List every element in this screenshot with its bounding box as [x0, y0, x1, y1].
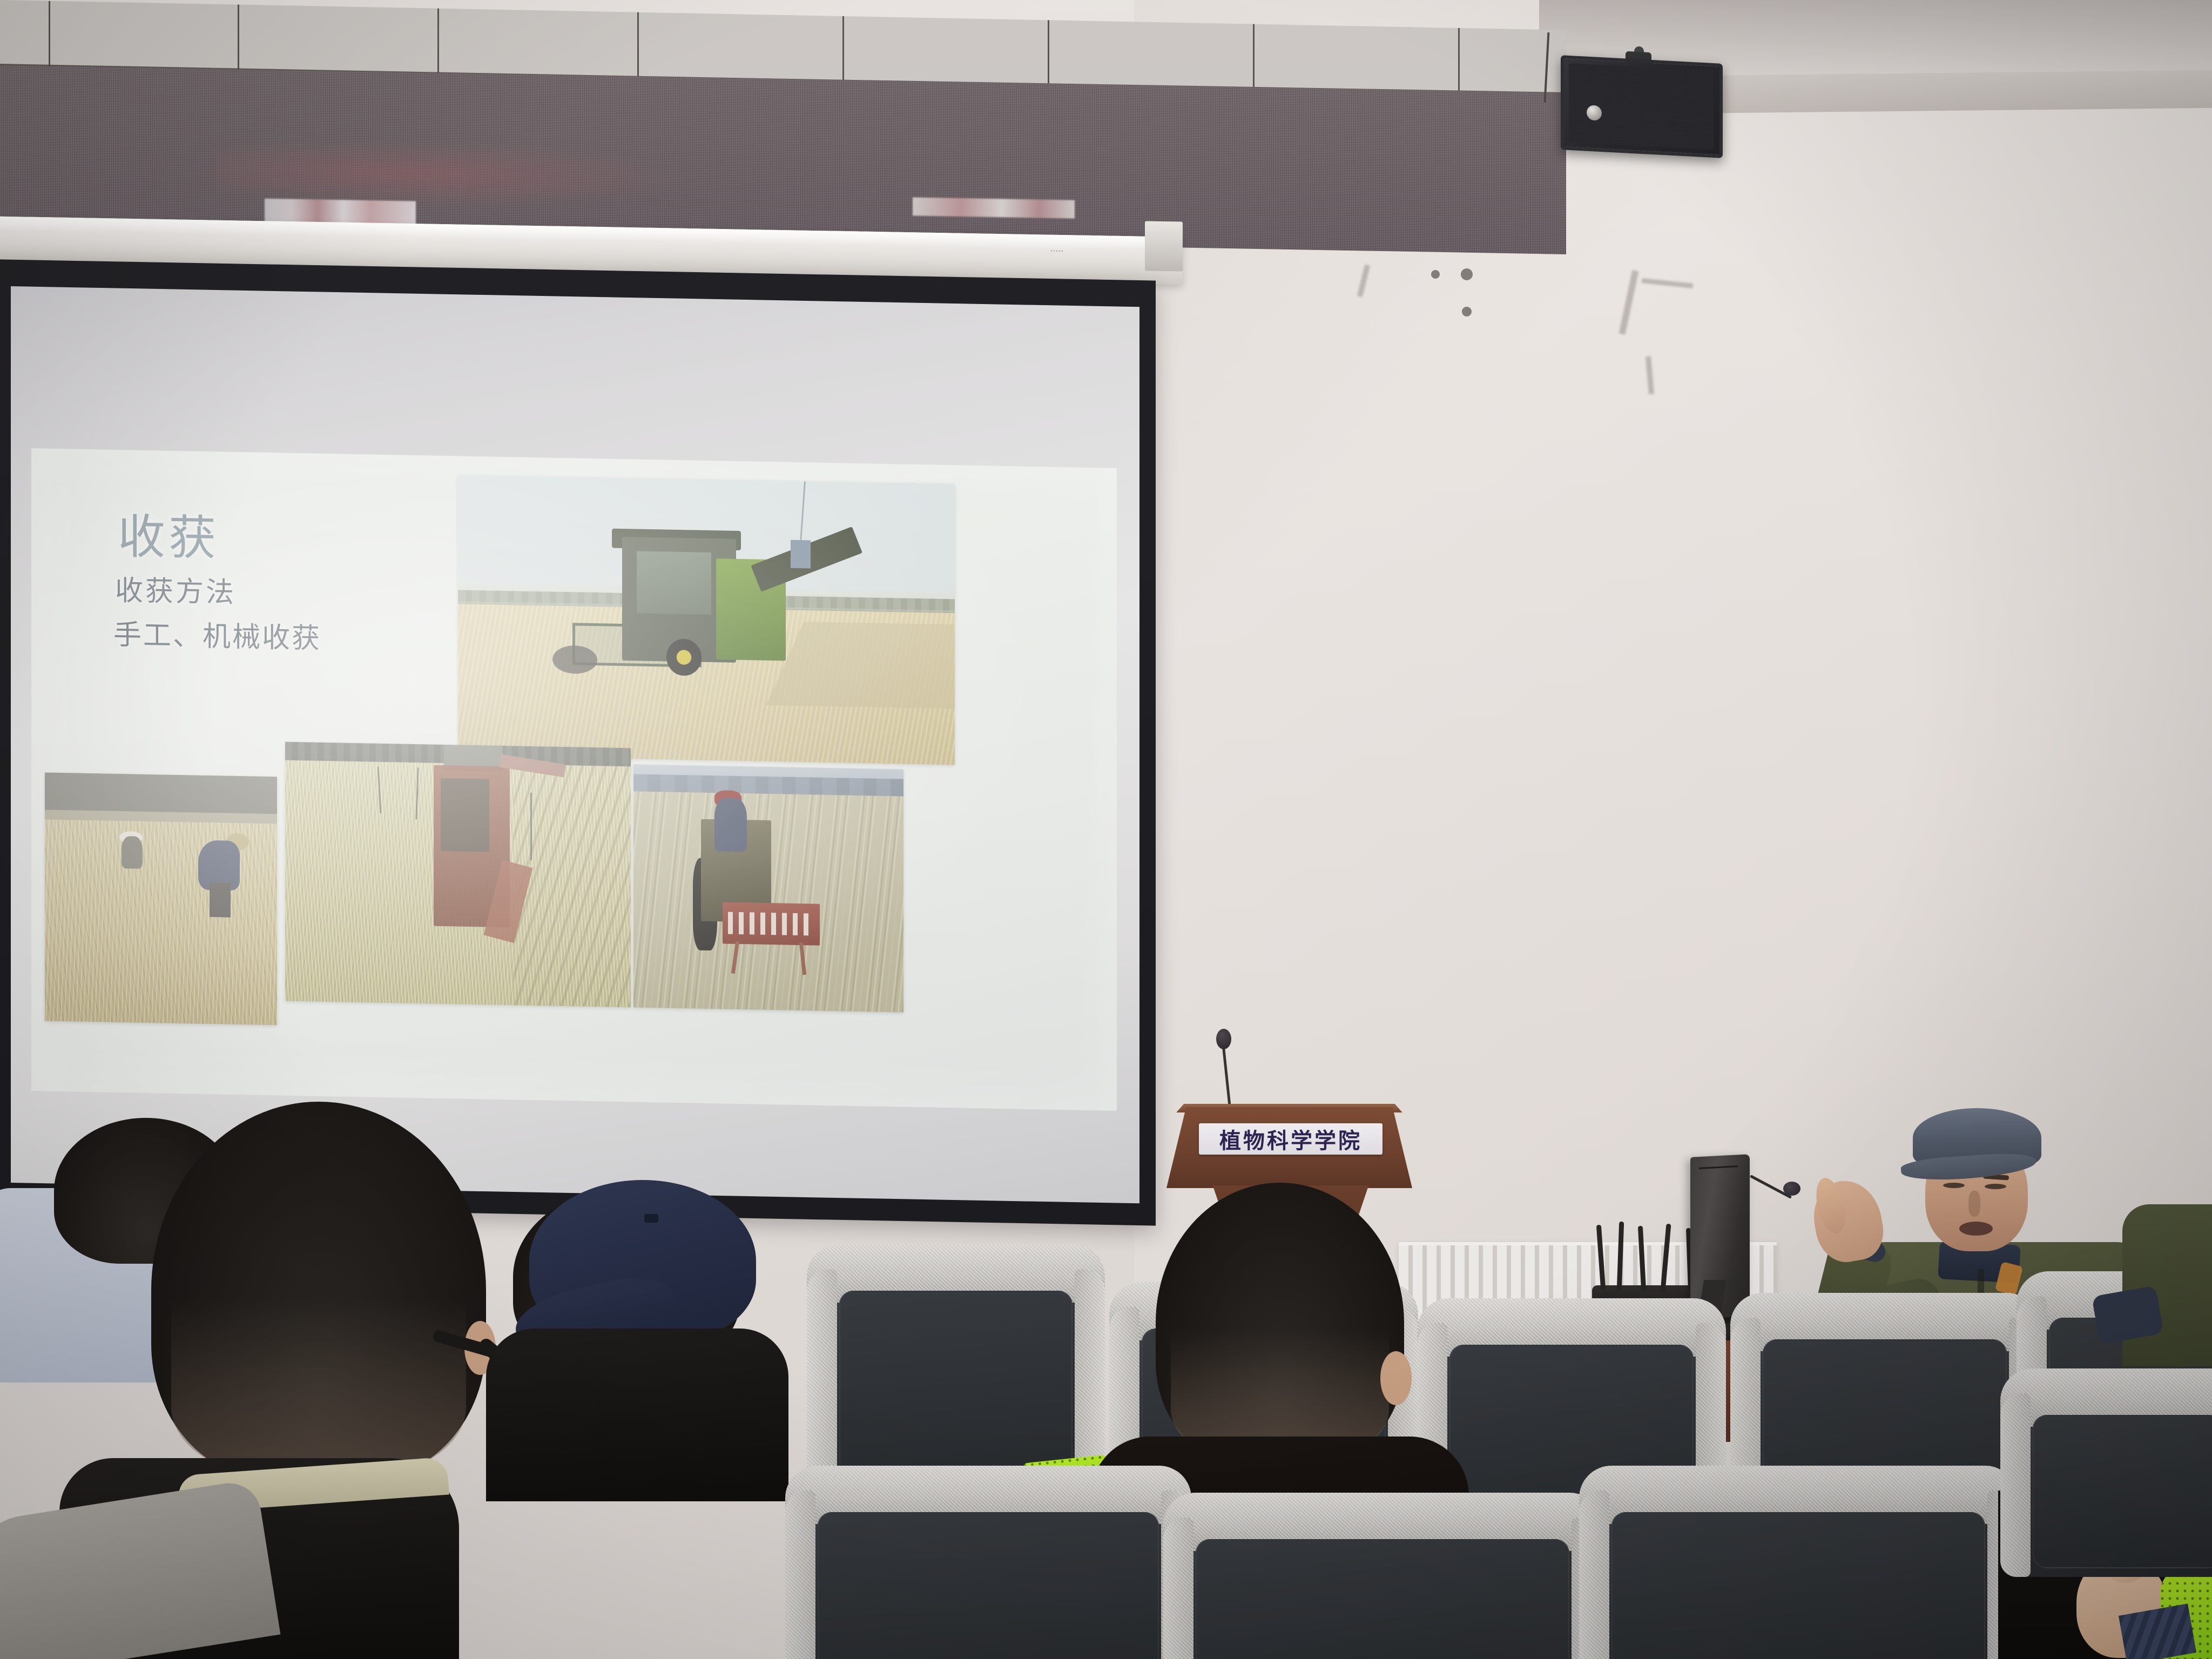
podium-microphone-icon	[1216, 1029, 1231, 1049]
slide-photo-combine-maize	[285, 742, 631, 1008]
student-glasses-head	[151, 1102, 486, 1480]
wall-nail-hole	[1431, 270, 1440, 279]
valance-sticker-right	[913, 197, 1075, 218]
lecture-hall-photo: ⸱⸱⸱⸱⸱ 收获 收获方法 手工、机械收获	[0, 0, 2212, 1659]
slide-subtitle-2: 手工、机械收获	[113, 612, 321, 656]
cap-button	[644, 1214, 658, 1223]
lecture-seat-foreground[interactable]	[1177, 1507, 1588, 1659]
presentation-slide: 收获 收获方法 手工、机械收获	[31, 448, 1117, 1111]
presenter-far-shoulder	[2122, 1204, 2212, 1366]
lecture-seat-right-edge[interactable]	[2014, 1382, 2212, 1577]
lecture-seat[interactable]	[821, 1258, 1091, 1491]
student-cap-body	[486, 1328, 788, 1501]
lecture-seat-foreground[interactable]	[799, 1480, 1177, 1659]
slide-photo-manual-harvest	[45, 772, 277, 1025]
slide-photo-tractor-harvester	[633, 764, 903, 1012]
wall-nail-hole	[1462, 307, 1472, 316]
podium-name-plate: 植物科学学院	[1199, 1123, 1382, 1155]
lecture-seat-foreground[interactable]	[1593, 1480, 2004, 1659]
housing-end-cap	[1145, 221, 1183, 271]
slide-photo-combine-wheat	[458, 475, 955, 765]
screen-brand-label: ⸱⸱⸱⸱⸱	[1050, 246, 1064, 257]
slide-subtitle-1: 收获方法	[115, 568, 236, 610]
student-center-head	[1156, 1183, 1404, 1464]
podium-sign-text: 植物科学学院	[1219, 1123, 1362, 1155]
speaker-knob	[1587, 105, 1602, 120]
wall-nail-hole	[1461, 268, 1473, 280]
slide-title: 收获	[118, 498, 219, 569]
